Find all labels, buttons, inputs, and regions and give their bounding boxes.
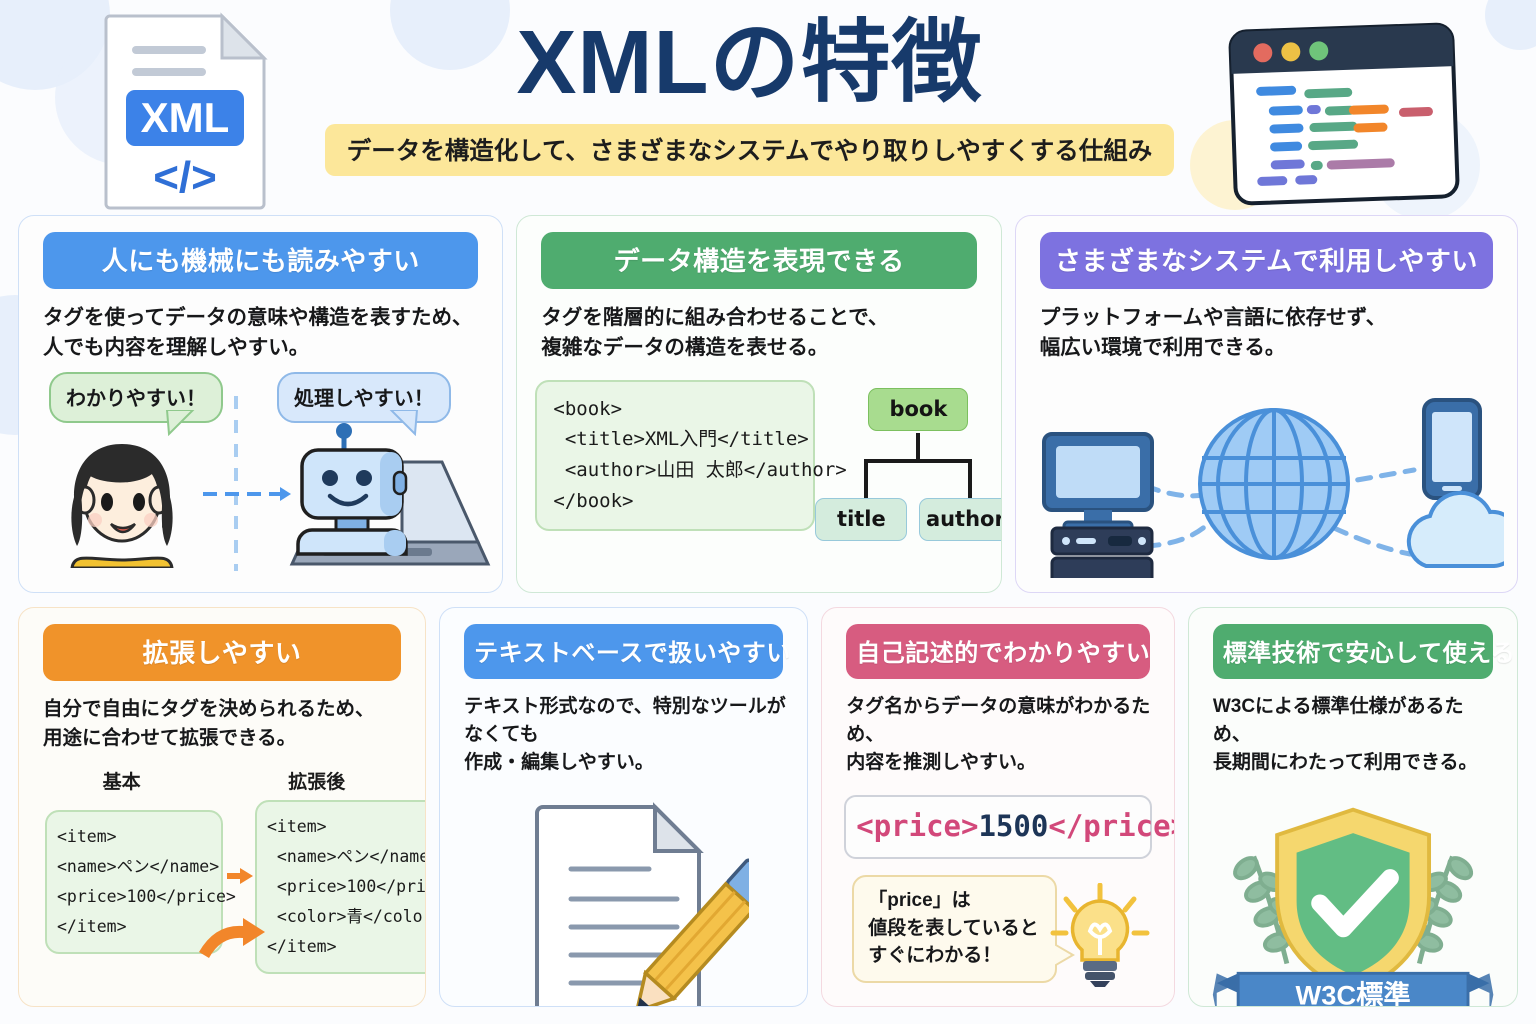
card-interoperable: さまざまなシステムで利用しやすい プラットフォームや言語に依存せず、 幅広い環境… — [1015, 215, 1518, 593]
tree-node-title: title — [815, 498, 907, 541]
card-heading: 拡張しやすい — [43, 624, 401, 681]
code-after: <item> <name>ペン</name> <price>100</price… — [255, 800, 426, 974]
human-machine-illustration: わかりやすい！ 処理しやすい！ — [37, 372, 484, 567]
callout-bubble: 「price」は 値段を表していると すぐにわかる！ — [852, 875, 1057, 983]
label-before: 基本 — [37, 767, 206, 794]
label-after: 拡張後 — [226, 767, 407, 794]
card-standard: 標準技術で安心して使える W3Cによる標準仕様があるため、 長期間にわたって利用… — [1188, 607, 1518, 1007]
document-pencil-icon — [499, 795, 749, 1007]
card-heading: データ構造を表現できる — [541, 232, 976, 289]
card-heading: 自己記述的でわかりやすい — [846, 624, 1150, 679]
tree-node-author: author — [919, 498, 1001, 541]
card-text-based: テキストベースで扱いやすい テキスト形式なので、特別なツールがなくても 作成・編… — [439, 607, 808, 1007]
card-extensible: 拡張しやすい 自分で自由にタグを決められるため、 用途に合わせて拡張できる。 基… — [18, 607, 426, 1007]
card-description: W3Cによる標準仕様があるため、 長期間にわたって利用できる。 — [1213, 693, 1497, 777]
robot-laptop-illustration — [282, 418, 497, 568]
page-title: XMLの特徴 — [517, 12, 983, 116]
browser-window-icon — [1227, 22, 1462, 207]
xml-tree-diagram: book title author — [823, 388, 982, 558]
speech-bubble-machine: 処理しやすい！ — [277, 372, 451, 423]
card-readable: 人にも機械にも読みやすい タグを使ってデータの意味や構造を表すため、 人でも内容… — [18, 215, 503, 593]
svg-text:XML: XML — [141, 94, 230, 141]
server-rack-icon — [1052, 528, 1152, 578]
price-code-sample: <price>1500</price> — [844, 795, 1152, 859]
xml-code-sample: <book> <title>XML入門</title> <author>山田 太… — [535, 380, 815, 531]
network-diagram — [1034, 378, 1504, 578]
card-description: タグ名からデータの意味がわかるため、 内容を推測しやすい。 — [846, 693, 1154, 777]
card-self-describing: 自己記述的でわかりやすい タグ名からデータの意味がわかるため、 内容を推測しやす… — [821, 607, 1175, 1007]
flow-arrow-dashed — [203, 492, 281, 496]
person-illustration — [47, 428, 197, 568]
card-description: プラットフォームや言語に依存せず、 幅広い環境で利用できる。 — [1040, 303, 1497, 364]
card-description: タグを階層的に組み合わせることで、 複雑なデータの構造を表せる。 — [541, 303, 980, 364]
card-row-bottom: 拡張しやすい 自分で自由にタグを決められるため、 用途に合わせて拡張できる。 基… — [0, 607, 1536, 1007]
page-subtitle: データを構造化して、さまざまなシステムでやり取りしやすくする仕組み — [325, 124, 1175, 176]
divider-dashed-vertical — [234, 396, 238, 571]
price-close-tag: </price> — [1048, 809, 1175, 843]
card-heading: 標準技術で安心して使える — [1213, 624, 1493, 679]
card-description: 自分で自由にタグを決められるため、 用途に合わせて拡張できる。 — [43, 695, 405, 753]
card-structure: データ構造を表現できる タグを階層的に組み合わせることで、 複雑なデータの構造を… — [516, 215, 1001, 593]
smartphone-icon — [1424, 400, 1480, 498]
ribbon-label: W3C標準 — [1295, 980, 1410, 1007]
monitor-icon — [1044, 434, 1152, 532]
price-value: 1500 — [978, 809, 1048, 843]
tree-node-root: book — [868, 388, 968, 431]
card-description: テキスト形式なので、特別なツールがなくても 作成・編集しやすい。 — [464, 693, 787, 777]
card-heading: さまざまなシステムで利用しやすい — [1040, 232, 1493, 289]
card-heading: 人にも機械にも読みやすい — [43, 232, 478, 289]
card-heading: テキストベースで扱いやすい — [464, 624, 783, 679]
arrow-right-icon — [227, 868, 253, 884]
card-description: タグを使ってデータの意味や構造を表すため、 人でも内容を理解しやすい。 — [43, 303, 482, 364]
price-open-tag: <price> — [856, 809, 978, 843]
cloud-icon — [1409, 493, 1504, 566]
arrow-curved-icon — [197, 908, 267, 958]
svg-text:</>: </> — [153, 153, 217, 202]
shield-badge-illustration: W3C標準 — [1207, 791, 1499, 1007]
lightbulb-icon — [1050, 883, 1150, 988]
card-row-top: 人にも機械にも読みやすい タグを使ってデータの意味や構造を表すため、 人でも内容… — [0, 215, 1536, 593]
page-header: XML </> XMLの特徴 データを構造化して、さまざまなシステムでやり取りし… — [0, 0, 1536, 215]
xml-file-icon: XML </> — [102, 10, 272, 210]
